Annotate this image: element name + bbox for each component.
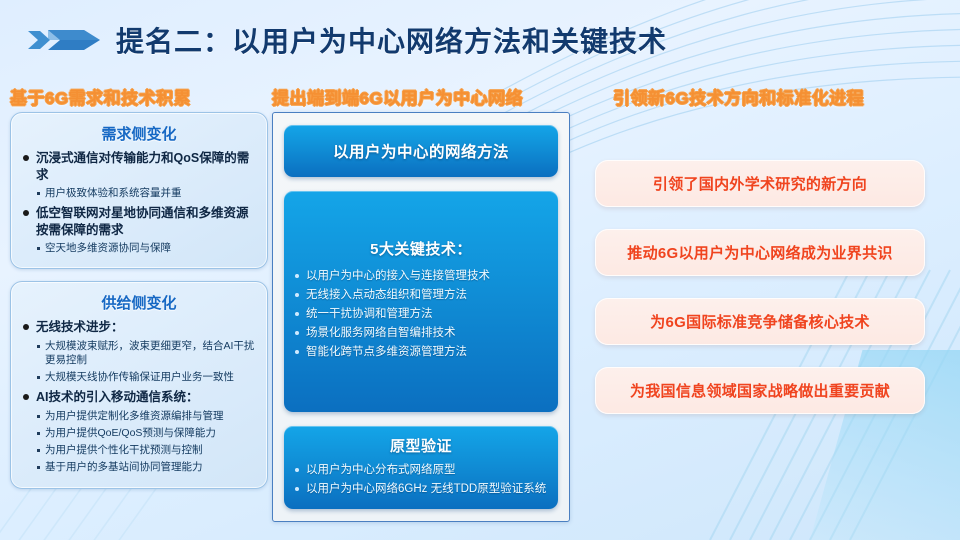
prototype-verification-box: 原型验证 以用户为中心分布式网络原型 以用户为中心网络6GHz 无线TDD原型验… [284, 426, 558, 509]
supply-point-2-sub-3-text: 为用户提供个性化干扰预测与控制 [45, 443, 203, 457]
slide-root: 提名二：以用户为中心网络方法和关键技术 基于6G需求和技术积累 提出端到端6G以… [0, 0, 960, 540]
key-tech-item-5: 智能化跨节点多维资源管理方法 [306, 344, 467, 360]
demand-point-2-text: 低空智联网对星地协同通信和多维资源按需保障的需求 [36, 205, 257, 238]
supply-point-1-sub-2: 大规模天线协作传输保证用户业务一致性 [37, 370, 257, 384]
key-tech-item-2: 无线接入点动态组织和管理方法 [306, 287, 467, 303]
list-item: 场景化服务网络自智编排技术 [295, 325, 547, 341]
key-tech-item-4: 场景化服务网络自智编排技术 [306, 325, 456, 341]
demand-side-card: 需求侧变化 沉浸式通信对传输能力和QoS保障的需求 用户极致体验和系统容量并重 … [10, 112, 268, 269]
bullet-dot-icon [295, 312, 299, 316]
list-item: 以用户为中心分布式网络原型 [295, 462, 547, 478]
impact-box-2: 推动6G以用户为中心网络成为业界共识 [595, 229, 925, 276]
prototype-item-1: 以用户为中心分布式网络原型 [306, 462, 456, 478]
impact-box-3-text: 为6G国际标准竞争储备核心技术 [605, 311, 915, 332]
key-tech-item-3: 统一干扰协调和管理方法 [306, 306, 433, 322]
impact-box-1: 引领了国内外学术研究的新方向 [595, 160, 925, 207]
bullet-dot-icon [295, 487, 299, 491]
supply-point-2: AI技术的引入移动通信系统： [23, 389, 257, 406]
supply-point-2-sub-4: 基于用户的多基站间协同管理能力 [37, 460, 257, 474]
supply-point-1-sub-2-text: 大规模天线协作传输保证用户业务一致性 [45, 370, 234, 384]
bullet-dot-icon [295, 331, 299, 335]
supply-side-card: 供给侧变化 无线技术进步： 大规模波束赋形，波束更细更窄，结合AI干扰更易控制 … [10, 281, 268, 488]
column-header-center: 提出端到端6G以用户为中心网络 [272, 84, 523, 109]
list-item: 智能化跨节点多维资源管理方法 [295, 344, 547, 360]
impact-box-3: 为6G国际标准竞争储备核心技术 [595, 298, 925, 345]
left-column: 需求侧变化 沉浸式通信对传输能力和QoS保障的需求 用户极致体验和系统容量并重 … [10, 112, 268, 489]
sub-bullet-icon [37, 376, 40, 379]
bullet-dot-icon [295, 274, 299, 278]
bullet-dot-icon [295, 468, 299, 472]
column-headers: 基于6G需求和技术积累 提出端到端6G以用户为中心网络 引领新6G技术方向和标准… [0, 84, 960, 110]
list-item: 无线接入点动态组织和管理方法 [295, 287, 547, 303]
supply-point-1: 无线技术进步： [23, 319, 257, 336]
supply-point-1-text: 无线技术进步： [36, 319, 124, 336]
impact-box-1-text: 引领了国内外学术研究的新方向 [605, 173, 915, 194]
supply-point-2-sub-2-text: 为用户提供QoE/QoS预测与保障能力 [45, 426, 216, 440]
supply-point-1-sub-1: 大规模波束赋形，波束更细更窄，结合AI干扰更易控制 [37, 339, 257, 367]
list-item: 统一干扰协调和管理方法 [295, 306, 547, 322]
demand-point-1: 沉浸式通信对传输能力和QoS保障的需求 [23, 150, 257, 183]
impact-box-4-text: 为我国信息领域国家战略做出重要贡献 [605, 380, 915, 401]
supply-point-2-sub-1: 为用户提供定制化多维资源编排与管理 [37, 409, 257, 423]
bullet-dot-icon [23, 210, 29, 216]
prototype-item-2: 以用户为中心网络6GHz 无线TDD原型验证系统 [306, 481, 546, 497]
bullet-dot-icon [295, 350, 299, 354]
sub-bullet-icon [37, 345, 40, 348]
column-header-right: 引领新6G技术方向和标准化进程 [613, 84, 864, 109]
supply-point-2-text: AI技术的引入移动通信系统： [36, 389, 199, 406]
bullet-dot-icon [23, 155, 29, 161]
supply-point-1-sub-1-text: 大规模波束赋形，波束更细更窄，结合AI干扰更易控制 [45, 339, 257, 367]
right-column: 引领了国内外学术研究的新方向 推动6G以用户为中心网络成为业界共识 为6G国际标… [595, 160, 925, 414]
key-tech-item-1: 以用户为中心的接入与连接管理技术 [306, 268, 490, 284]
key-technologies-list: 以用户为中心的接入与连接管理技术 无线接入点动态组织和管理方法 统一干扰协调和管… [295, 265, 547, 363]
prototype-title: 原型验证 [295, 435, 547, 456]
demand-point-1-text: 沉浸式通信对传输能力和QoS保障的需求 [36, 150, 257, 183]
key-technologies-title: 5大关键技术： [295, 238, 547, 259]
column-header-left: 基于6G需求和技术积累 [10, 84, 191, 109]
demand-card-title: 需求侧变化 [21, 123, 257, 144]
demand-point-2-sub-1-text: 空天地多维资源协同与保障 [45, 241, 171, 255]
bullet-dot-icon [295, 293, 299, 297]
sub-bullet-icon [37, 449, 40, 452]
arrow-banner-icon [26, 25, 104, 55]
list-item: 以用户为中心的接入与连接管理技术 [295, 268, 547, 284]
sub-bullet-icon [37, 466, 40, 469]
demand-point-1-sub-1-text: 用户极致体验和系统容量并重 [45, 186, 182, 200]
supply-card-title: 供给侧变化 [21, 292, 257, 313]
demand-point-1-sub-1: 用户极致体验和系统容量并重 [37, 186, 257, 200]
impact-box-4: 为我国信息领域国家战略做出重要贡献 [595, 367, 925, 414]
sub-bullet-icon [37, 247, 40, 250]
slide-title-row: 提名二：以用户为中心网络方法和关键技术 [26, 20, 667, 60]
page-title: 提名二：以用户为中心网络方法和关键技术 [116, 20, 667, 60]
hero-method-box: 以用户为中心的网络方法 [284, 125, 558, 177]
demand-point-2: 低空智联网对星地协同通信和多维资源按需保障的需求 [23, 205, 257, 238]
supply-point-2-sub-3: 为用户提供个性化干扰预测与控制 [37, 443, 257, 457]
bullet-dot-icon [23, 394, 29, 400]
supply-point-2-sub-1-text: 为用户提供定制化多维资源编排与管理 [45, 409, 224, 423]
bullet-dot-icon [23, 324, 29, 330]
center-column: 以用户为中心的网络方法 5大关键技术： 以用户为中心的接入与连接管理技术 无线接… [272, 112, 570, 522]
prototype-list: 以用户为中心分布式网络原型 以用户为中心网络6GHz 无线TDD原型验证系统 [295, 462, 547, 497]
demand-point-2-sub-1: 空天地多维资源协同与保障 [37, 241, 257, 255]
key-technologies-box: 5大关键技术： 以用户为中心的接入与连接管理技术 无线接入点动态组织和管理方法 … [284, 191, 558, 412]
supply-point-2-sub-2: 为用户提供QoE/QoS预测与保障能力 [37, 426, 257, 440]
list-item: 以用户为中心网络6GHz 无线TDD原型验证系统 [295, 481, 547, 497]
impact-box-2-text: 推动6G以用户为中心网络成为业界共识 [605, 242, 915, 263]
sub-bullet-icon [37, 192, 40, 195]
supply-point-2-sub-4-text: 基于用户的多基站间协同管理能力 [45, 460, 203, 474]
sub-bullet-icon [37, 432, 40, 435]
hero-method-title: 以用户为中心的网络方法 [333, 140, 509, 162]
sub-bullet-icon [37, 415, 40, 418]
